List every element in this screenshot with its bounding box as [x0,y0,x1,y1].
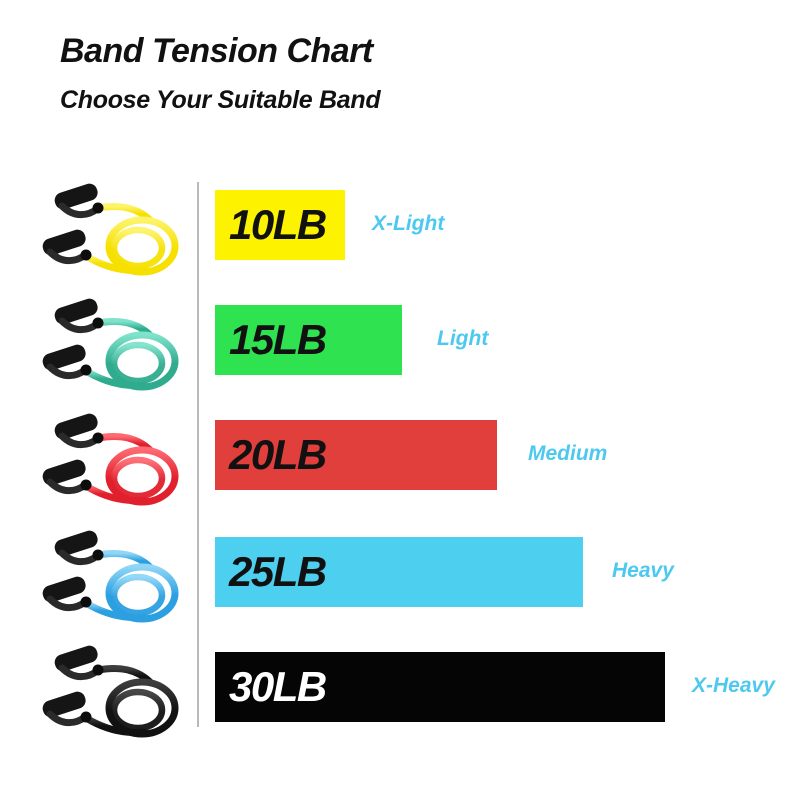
tension-bar-value: 20LB [215,434,326,476]
band-row: 10LBX-Light [0,182,800,290]
resistance-band-blue [34,529,194,637]
tension-level-label: X-Light [372,212,444,236]
tension-bar-value: 15LB [215,319,326,361]
tension-level-label: Heavy [612,559,674,583]
tension-bar[interactable]: 25LB [215,537,583,607]
band-row: 30LBX-Heavy [0,644,800,752]
band-row: 25LBHeavy [0,529,800,637]
resistance-band-teal [34,297,194,405]
tension-level-label: Medium [528,442,607,466]
tension-bar-value: 10LB [215,204,326,246]
tension-level-label: Light [437,327,488,351]
tension-bar[interactable]: 20LB [215,420,497,490]
tension-bar-value: 25LB [215,551,326,593]
resistance-band-yellow [34,182,194,290]
tension-level-label: X-Heavy [692,674,775,698]
tension-bar[interactable]: 10LB [215,190,345,260]
band-row: 15LBLight [0,297,800,405]
page-title: Band Tension Chart [60,32,373,71]
tension-bar-value: 30LB [215,666,326,708]
page-subtitle: Choose Your Suitable Band [60,86,380,115]
resistance-band-red [34,412,194,520]
band-tension-chart: Band Tension Chart Choose Your Suitable … [0,0,800,800]
tension-bar[interactable]: 30LB [215,652,665,722]
resistance-band-black [34,644,194,752]
tension-bar[interactable]: 15LB [215,305,402,375]
band-row: 20LBMedium [0,412,800,520]
